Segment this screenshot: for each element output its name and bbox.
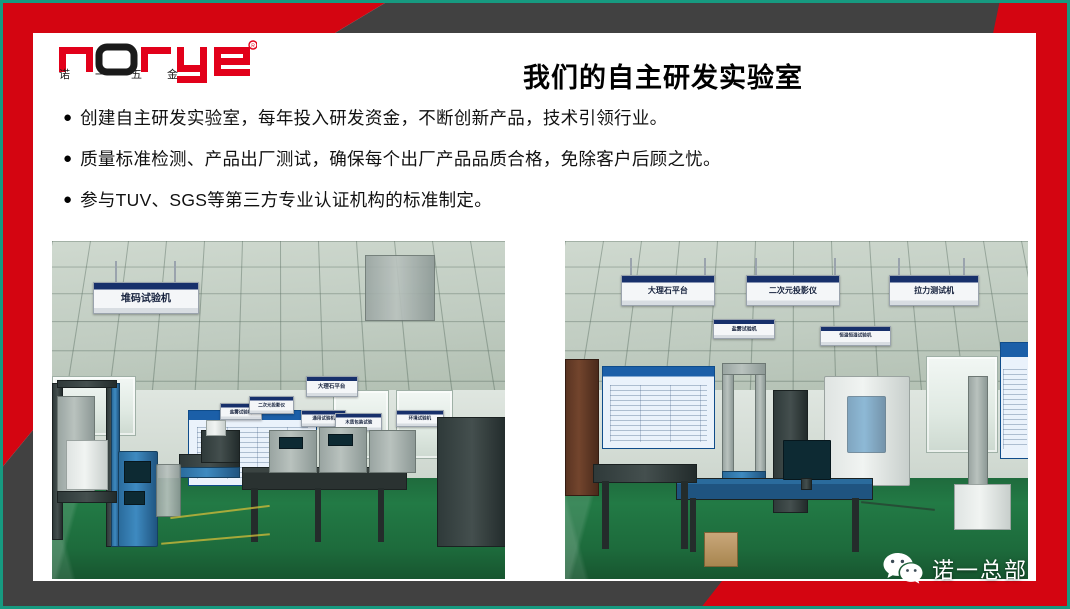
bullet-dot-icon: ●	[63, 149, 72, 169]
hanging-sign-label: 堆码试验机	[121, 294, 171, 304]
wechat-icon	[882, 551, 924, 587]
tester-base	[954, 484, 1012, 530]
hanging-sign-label: 大理石平台	[648, 287, 688, 295]
notice-board-side	[1000, 342, 1028, 459]
hanging-sign: 二次元投影仪	[249, 396, 294, 413]
bullet-list: ● 创建自主研发实验室，每年投入研发资金，不断创新产品，技术引领行业。 ● 质量…	[63, 108, 1013, 231]
bullet-text: 质量标准检测、产品出厂测试，确保每个出厂产品品质合格，免除客户后顾之忧。	[80, 149, 1013, 171]
wechat-label: 诺一总部	[932, 553, 1028, 585]
chamber-window	[847, 396, 886, 452]
logo-subtitle: 诺 一 五 金	[59, 66, 179, 82]
hanging-sign-label: 拉力测试机	[914, 287, 954, 295]
hanging-sign-label: 木质包装试验	[345, 420, 372, 425]
trolley	[156, 464, 181, 517]
hanging-sign: 拉力测试机	[889, 275, 979, 306]
wechat-watermark: 诺一总部	[882, 551, 1028, 587]
platform-leg	[681, 481, 688, 549]
bullet-dot-icon: ●	[63, 108, 72, 128]
list-item: ● 创建自主研发实验室，每年投入研发资金，不断创新产品，技术引领行业。	[63, 108, 1013, 130]
test-frame-beam	[57, 380, 118, 389]
machine-display	[279, 437, 304, 449]
right-band-red	[1036, 0, 1070, 609]
hanging-sign-label: 通用试验机	[312, 417, 335, 422]
hanging-sign-label: 环境试验机	[409, 417, 432, 422]
content-card: R 诺 一 五 金 我们的自主研发实验室 ● 创建自主研发实验室，每年投入研发资…	[33, 33, 1036, 581]
hanging-sign-label: 盐雾试验机	[732, 327, 757, 332]
test-machine-head	[66, 440, 109, 489]
notice-board	[602, 366, 715, 449]
logo-subtitle-char-0: 诺	[59, 66, 71, 82]
lab-photo-right: 大理石平台 二次元投影仪 拉力测试机 盐雾试验机 恒温恒湿试验机	[565, 241, 1028, 579]
svg-text:R: R	[251, 44, 255, 50]
slide-root: R 诺 一 五 金 我们的自主研发实验室 ● 创建自主研发实验室，每年投入研发资…	[0, 0, 1070, 609]
hanging-sign: 堆码试验机	[93, 282, 199, 314]
platform-leg	[602, 481, 609, 549]
list-item: ● 质量标准检测、产品出厂测试，确保每个出厂产品品质合格，免除客户后顾之忧。	[63, 149, 1013, 171]
bench-leg	[315, 488, 321, 542]
control-keypad	[124, 491, 144, 505]
slide-title: 我们的自主研发实验室	[333, 56, 993, 95]
logo-subtitle-char-3: 金	[167, 66, 179, 82]
carton-box	[704, 532, 738, 568]
control-screen	[124, 461, 151, 483]
left-band-red	[0, 0, 33, 470]
test-frame-base	[57, 491, 118, 503]
ceiling-panel	[365, 255, 435, 321]
bullet-text: 创建自主研发实验室，每年投入研发资金，不断创新产品，技术引领行业。	[80, 108, 1013, 130]
bench-frame	[179, 467, 240, 477]
bullet-dot-icon: ●	[63, 190, 72, 210]
hanging-sign-label: 二次元投影仪	[769, 287, 817, 295]
logo-subtitle-char-1: 一	[95, 66, 107, 82]
hanging-sign-label: 大理石平台	[318, 384, 346, 390]
hanging-sign: 盐雾试验机	[713, 319, 775, 340]
bench-leg	[690, 498, 696, 552]
logo-subtitle-char-2: 五	[131, 66, 143, 82]
bench-leg	[378, 488, 384, 542]
lathe-machine	[369, 430, 416, 473]
hanging-sign-label: 二次元投影仪	[258, 403, 285, 408]
computer-monitor	[783, 440, 831, 479]
bullet-text: 参与TUV、SGS等第三方专业认证机构的标准制定。	[80, 190, 1013, 212]
company-logo: R 诺 一 五 金	[57, 36, 257, 98]
machine-display	[328, 434, 353, 446]
photo-row: 堆码试验机 盐雾试验机 二次元投影仪	[52, 241, 1028, 579]
hanging-sign: 大理石平台	[306, 376, 358, 397]
tensile-crosshead	[722, 363, 766, 375]
monitor-stand	[801, 478, 812, 490]
foreground-panel	[437, 417, 505, 547]
bench-leg	[852, 498, 858, 552]
hanging-sign: 恒温恒湿试验机	[820, 326, 891, 347]
list-item: ● 参与TUV、SGS等第三方专业认证机构的标准制定。	[63, 190, 1013, 212]
projector-head	[206, 420, 226, 436]
work-bench	[676, 478, 872, 500]
lab-photo-left: 堆码试验机 盐雾试验机 二次元投影仪	[52, 241, 505, 579]
hanging-sign: 大理石平台	[621, 275, 716, 306]
hanging-sign-label: 恒温恒湿试验机	[839, 334, 871, 339]
hanging-sign: 二次元投影仪	[746, 275, 841, 306]
